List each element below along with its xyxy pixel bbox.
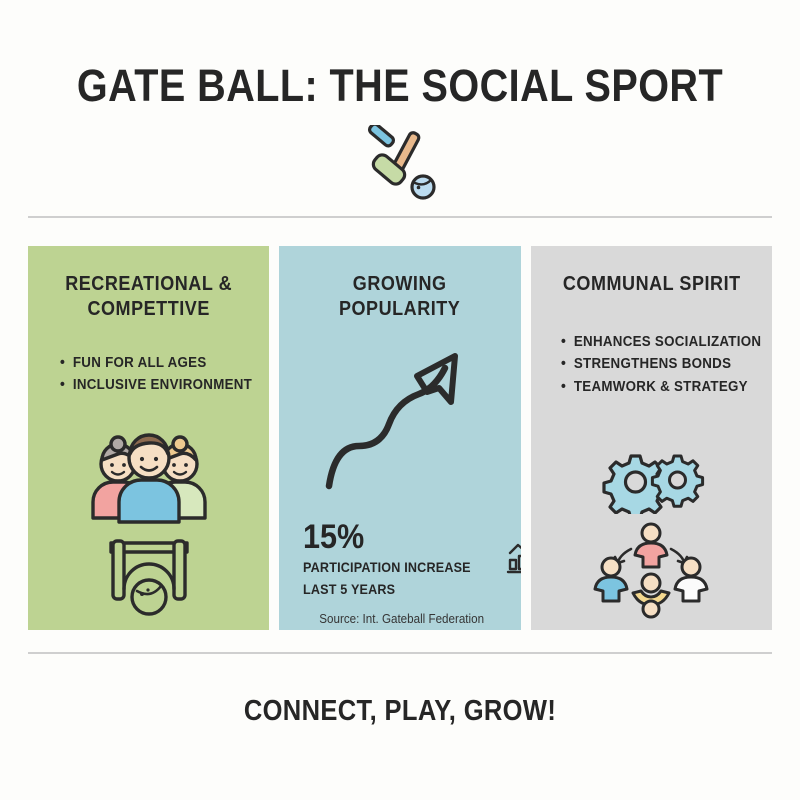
panel-title-recreational: RECREATIONAL & COMPETTIVE	[53, 272, 245, 322]
columns-container: RECREATIONAL & COMPETTIVE FUN FOR ALL AG…	[28, 246, 772, 630]
list-item: STRENGTHENS BONDS	[561, 353, 761, 375]
stat-label-line2: LAST 5 YEARS	[303, 580, 471, 598]
list-item: ENHANCES SOCIALIZATION	[561, 331, 761, 353]
infographic-page: GATE BALL: THE SOCIAL SPORT	[0, 0, 800, 800]
page-title: GATE BALL: THE SOCIAL SPORT	[48, 62, 752, 109]
gate-and-ball-icon	[99, 533, 199, 624]
stat-row: 15% PARTICIPATION INCREASE LAST 5 YEARS	[303, 520, 500, 598]
list-item: FUN FOR ALL AGES	[60, 352, 252, 374]
list-item: INCLUSIVE ENVIRONMENT	[60, 374, 252, 396]
panel-communal: COMMUNAL SPIRIT ENHANCES SOCIALIZATION S…	[531, 246, 772, 630]
panel-title-popularity: GROWING POPULARITY	[304, 272, 496, 322]
panel-popularity: GROWING POPULARITY 15% PARTICIPATION INC…	[279, 246, 520, 630]
mallet-and-ball-icon	[0, 123, 800, 203]
icon-stack-recreational	[83, 422, 215, 624]
bullet-list-recreational: FUN FOR ALL AGES INCLUSIVE ENVIRONMENT	[42, 352, 269, 397]
panel-recreational: RECREATIONAL & COMPETTIVE FUN FOR ALL AG…	[28, 246, 269, 630]
divider-top	[28, 216, 772, 218]
footer: CONNECT, PLAY, GROW!	[0, 695, 800, 728]
upward-curvy-arrow-icon	[293, 322, 506, 520]
panel-title-communal: COMMUNAL SPIRIT	[562, 272, 740, 297]
bullet-list-communal: ENHANCES SOCIALIZATION STRENGTHENS BONDS…	[545, 331, 772, 398]
stat-number: 15%	[303, 520, 471, 554]
stat-text-group: 15% PARTICIPATION INCREASE LAST 5 YEARS	[303, 520, 489, 598]
divider-bottom	[28, 652, 772, 654]
footer-tagline: CONNECT, PLAY, GROW!	[48, 695, 752, 728]
three-people-icon	[83, 422, 215, 531]
stat-source: Source: Int. Gateball Federation	[310, 612, 494, 626]
bar-chart-growth-icon	[506, 536, 521, 581]
icon-stack-communal	[587, 450, 715, 624]
stat-label-line1: PARTICIPATION INCREASE	[303, 558, 471, 576]
two-gears-icon	[595, 450, 707, 519]
teamwork-circle-icon	[587, 521, 715, 624]
header: GATE BALL: THE SOCIAL SPORT	[0, 0, 800, 203]
list-item: TEAMWORK & STRATEGY	[561, 376, 761, 398]
stat-block: 15% PARTICIPATION INCREASE LAST 5 YEARS	[293, 520, 506, 630]
